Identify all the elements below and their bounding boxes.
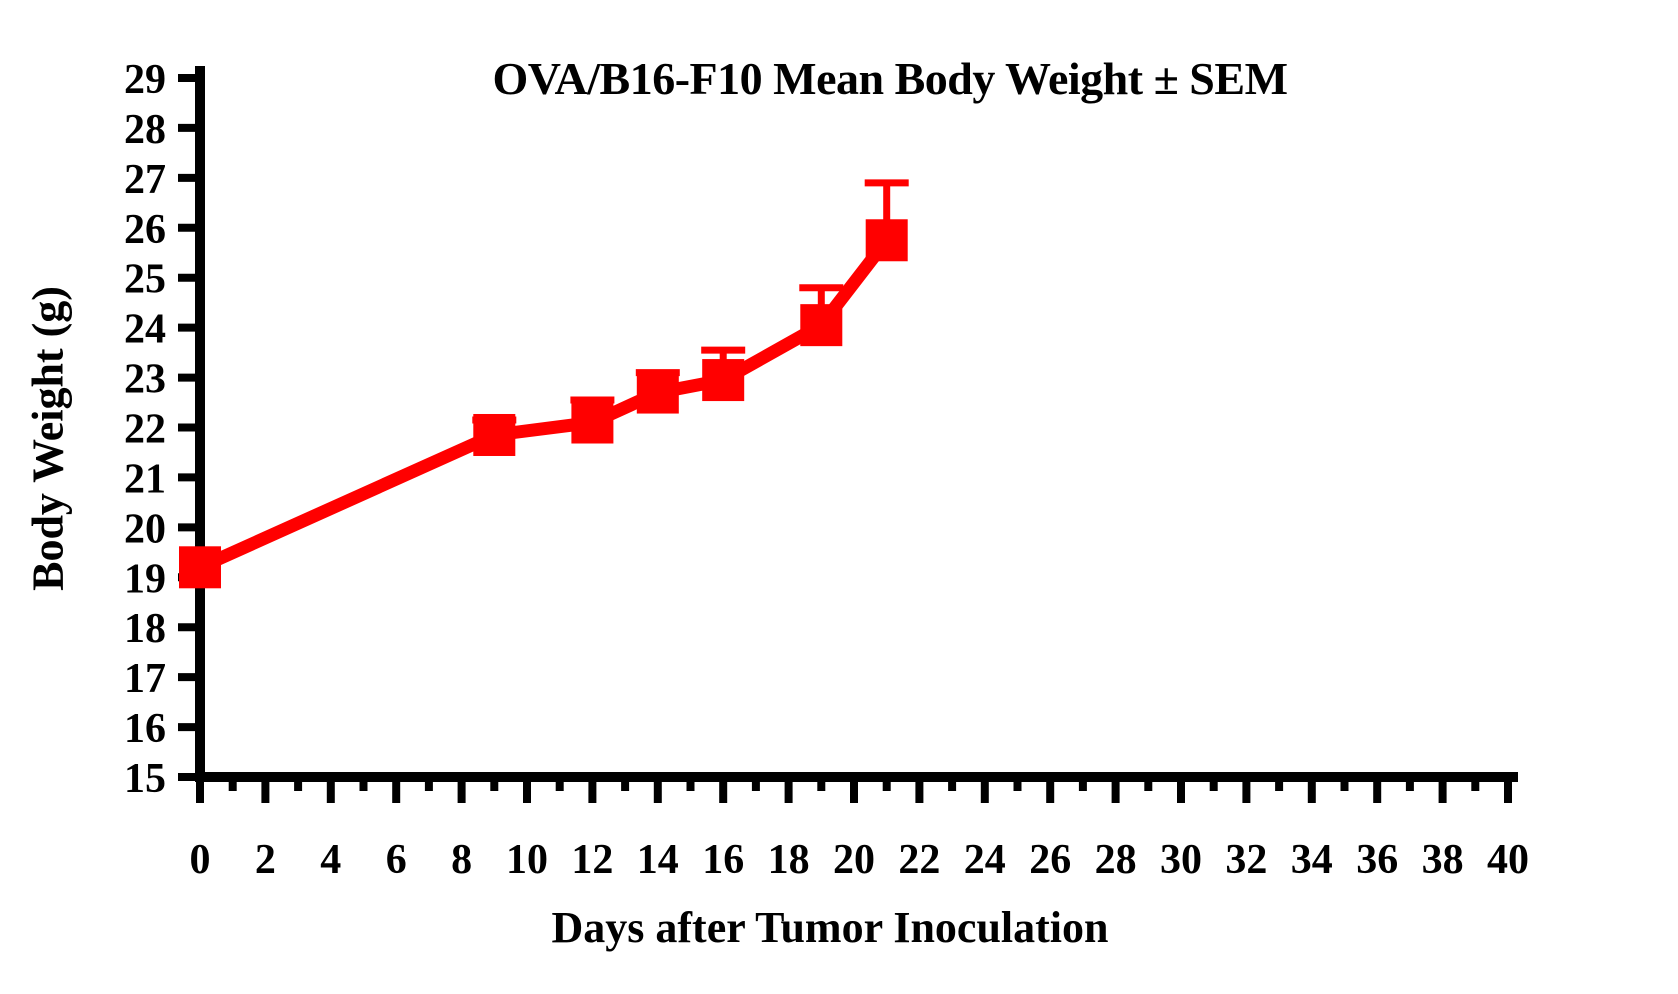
y-tick-label: 15 [124, 756, 166, 802]
axis-lines [195, 66, 1518, 777]
y-tick-label: 16 [124, 706, 166, 752]
x-tick-label: 8 [451, 837, 472, 883]
data-point-marker [702, 359, 744, 401]
y-tick-label: 23 [124, 357, 166, 403]
data-point-marker [179, 546, 221, 588]
y-tick-label: 27 [124, 157, 166, 203]
y-tick-label: 20 [124, 506, 166, 552]
y-tick-label: 22 [124, 407, 166, 453]
x-tick-label: 36 [1356, 837, 1398, 883]
data-point-marker [473, 414, 515, 456]
y-tick-label: 24 [124, 307, 166, 353]
y-tick-label: 18 [124, 606, 166, 652]
x-tick-label: 32 [1225, 837, 1267, 883]
x-tick-label: 28 [1095, 837, 1137, 883]
x-tick-label: 24 [964, 837, 1006, 883]
x-tick-label: 10 [506, 837, 548, 883]
x-tick-label: 16 [702, 837, 744, 883]
x-tick-label: 38 [1422, 837, 1464, 883]
x-tick-label: 12 [571, 837, 613, 883]
x-tick-label: 4 [320, 837, 341, 883]
x-axis-ticks: 0246810121416182022242628303234363840 [190, 777, 1530, 883]
data-point-marker [637, 372, 679, 414]
y-tick-label: 17 [124, 656, 166, 702]
y-tick-label: 19 [124, 556, 166, 602]
y-tick-label: 25 [124, 257, 166, 303]
x-tick-label: 30 [1160, 837, 1202, 883]
x-tick-label: 20 [833, 837, 875, 883]
plot-area: 151617181920212223242526272829 024681012… [0, 0, 1678, 994]
x-tick-label: 0 [190, 837, 211, 883]
x-tick-label: 14 [637, 837, 679, 883]
y-axis-ticks: 151617181920212223242526272829 [124, 57, 200, 802]
x-tick-label: 6 [386, 837, 407, 883]
chart-figure: OVA/B16-F10 Mean Body Weight ± SEM Body … [0, 0, 1678, 994]
series-line [200, 240, 887, 567]
data-point-marker [800, 304, 842, 346]
data-point-marker [571, 402, 613, 444]
x-tick-label: 40 [1487, 837, 1529, 883]
data-point-marker [866, 219, 908, 261]
x-tick-label: 2 [255, 837, 276, 883]
x-tick-label: 26 [1029, 837, 1071, 883]
x-tick-label: 22 [898, 837, 940, 883]
y-tick-label: 28 [124, 107, 166, 153]
y-tick-label: 21 [124, 456, 166, 502]
y-tick-label: 26 [124, 207, 166, 253]
data-series [179, 183, 909, 588]
x-tick-label: 18 [768, 837, 810, 883]
x-tick-label: 34 [1291, 837, 1333, 883]
y-tick-label: 29 [124, 57, 166, 103]
